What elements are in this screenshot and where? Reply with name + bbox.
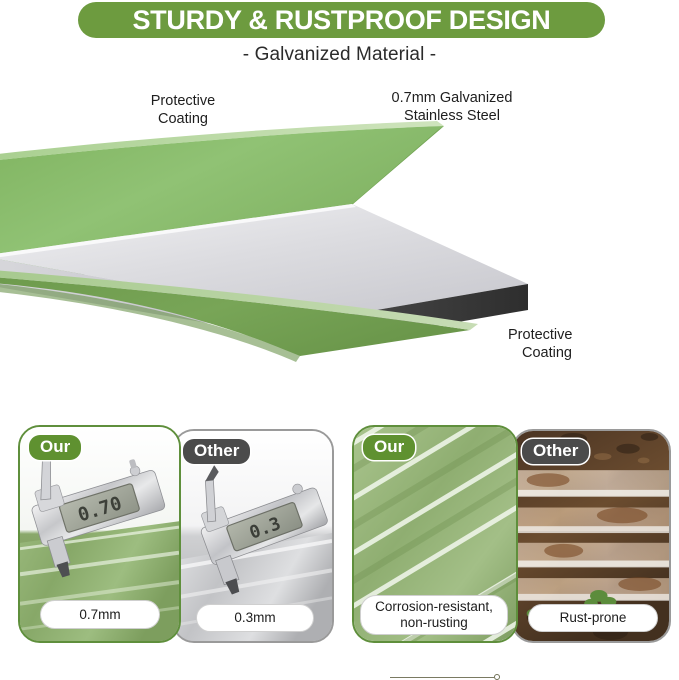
badge-other: Other bbox=[183, 439, 250, 464]
callout-line-2: Stainless Steel bbox=[352, 108, 552, 126]
leader-line bbox=[390, 677, 494, 678]
badge-our: Our bbox=[29, 435, 81, 460]
callout-line-2: Coating bbox=[108, 111, 258, 129]
caption-line-1: Corrosion-resistant, bbox=[375, 599, 493, 614]
leader-dot bbox=[494, 674, 500, 680]
callout-line-1: Protective bbox=[508, 327, 668, 345]
subtitle: - Galvanized Material - bbox=[0, 44, 679, 66]
caption-thickness-other: 0.3mm bbox=[196, 604, 314, 632]
caption-corrosion-our: Corrosion-resistant, non-rusting bbox=[360, 595, 508, 635]
callout-line-1: Protective bbox=[108, 93, 258, 111]
caption-text: Corrosion-resistant, non-rusting bbox=[375, 599, 493, 631]
caption-thickness-our: 0.7mm bbox=[40, 600, 160, 629]
callout-line-1: 0.7mm Galvanized bbox=[352, 90, 552, 108]
caption-text: 0.7mm bbox=[79, 607, 120, 623]
caption-line-2: non-rusting bbox=[400, 615, 468, 630]
page-title: STURDY & RUSTPROOF DESIGN bbox=[132, 7, 550, 34]
caption-text: Rust-prone bbox=[560, 610, 627, 626]
title-banner: STURDY & RUSTPROOF DESIGN bbox=[78, 2, 605, 38]
callout-bottom-protective-coating: Protective Coating bbox=[508, 327, 668, 362]
callout-steel-core: 0.7mm Galvanized Stainless Steel bbox=[352, 90, 552, 125]
badge-our: Our bbox=[363, 435, 415, 460]
callout-top-protective-coating: Protective Coating bbox=[108, 93, 258, 128]
comparison-section: 0.70 Our 0.7mm bbox=[0, 412, 679, 645]
badge-other: Other bbox=[522, 439, 589, 464]
callout-line-2: Coating bbox=[508, 345, 668, 363]
caption-text: 0.3mm bbox=[234, 610, 275, 626]
infographic-root: STURDY & RUSTPROOF DESIGN - Galvanized M… bbox=[0, 0, 679, 645]
caption-corrosion-other: Rust-prone bbox=[528, 604, 658, 632]
